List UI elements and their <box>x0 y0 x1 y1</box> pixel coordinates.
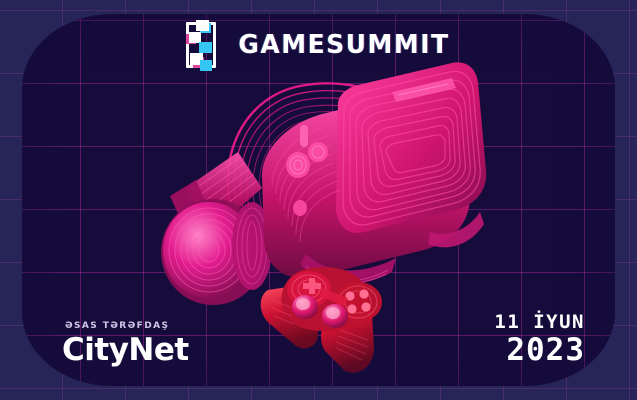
event-date-year: 2023 <box>494 335 585 366</box>
logo-chip-cyan-3 <box>200 60 212 71</box>
gamesummit-logo-mark-icon <box>182 20 220 70</box>
event-date-day: 11 İYUN <box>494 313 585 332</box>
logo-chip-white-1 <box>196 20 209 31</box>
partner-kicker: ƏSAS TƏRƏFDAŞ <box>62 321 189 331</box>
gamesummit-wordmark: GAMESUMMIT <box>239 32 450 58</box>
partner-brand-citynet: CityNet <box>62 335 189 366</box>
event-date-block: 11 İYUN 2023 <box>494 313 585 366</box>
partner-block: ƏSAS TƏRƏFDAŞ CityNet <box>62 321 189 366</box>
logo-chip-cyan-2 <box>199 42 212 53</box>
logo-lockup: GAMESUMMIT <box>0 20 637 70</box>
event-banner: GAMESUMMIT ƏSAS TƏRƏFDAŞ CityNet 11 İYUN… <box>0 0 637 400</box>
